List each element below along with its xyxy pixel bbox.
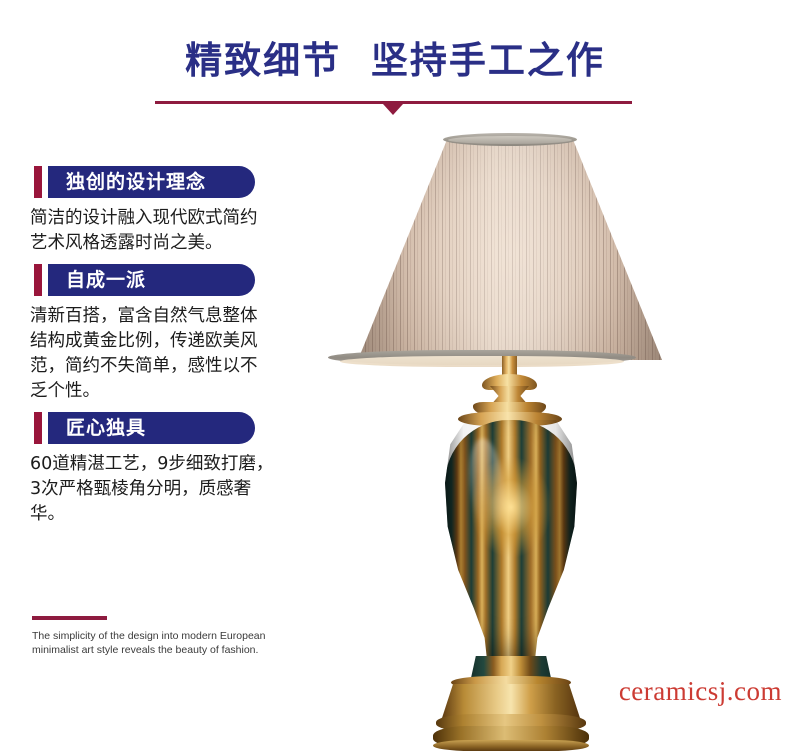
accent-bar [34,412,42,444]
feature-heading: 自成一派 [0,262,300,298]
feature-item: 自成一派 清新百搭，富含自然气息整体结构成黄金比例，传递欧美风范，简约不失简单，… [0,262,300,404]
lamp-ceramic-body-shading [445,420,577,662]
page-title: 精致细节 坚持手工之作 [0,30,790,84]
feature-heading: 匠心独具 [0,410,300,446]
heading-pill: 独创的设计理念 [48,166,255,198]
chevron-down-icon [383,104,403,115]
lamp-base-tier-2 [442,684,580,718]
feature-heading: 独创的设计理念 [0,164,300,200]
english-note-accent-bar [32,616,107,620]
accent-bar [34,166,42,198]
feature-label: 匠心独具 [66,412,146,444]
feature-item: 匠心独具 60道精湛工艺，9步细致打磨，3次严格甄棱角分明，质感奢华。 [0,410,300,527]
lamp-shade-top-inner [448,136,572,144]
accent-bar [34,264,42,296]
feature-label: 独创的设计理念 [66,166,206,198]
lamp-shade-sheen [358,138,662,360]
product-image-table-lamp [330,120,690,690]
english-note: The simplicity of the design into modern… [32,616,332,657]
heading-pill: 自成一派 [48,264,255,296]
feature-body: 60道精湛工艺，9步细致打磨，3次严格甄棱角分明，质感奢华。 [30,452,274,527]
heading-pill: 匠心独具 [48,412,255,444]
feature-label: 自成一派 [66,264,146,296]
feature-body: 简洁的设计融入现代欧式简约艺术风格透露时尚之美。 [30,206,274,256]
lamp-base-bottom-edge [433,740,589,751]
lamp-shade [330,138,690,380]
english-note-text: The simplicity of the design into modern… [32,629,312,657]
feature-list: 独创的设计理念 简洁的设计融入现代欧式简约艺术风格透露时尚之美。 自成一派 清新… [0,164,300,533]
site-watermark: ceramicsj.com [619,676,782,707]
feature-item: 独创的设计理念 简洁的设计融入现代欧式简约艺术风格透露时尚之美。 [0,164,300,256]
lamp-shade-bottom-inner [340,356,624,367]
lamp-pedestal [471,656,551,678]
product-detail-page: 精致细节 坚持手工之作 独创的设计理念 简洁的设计融入现代欧式简约艺术风格透露时… [0,0,790,711]
feature-body: 清新百搭，富含自然气息整体结构成黄金比例，传递欧美风范，简约不失简单，感性以不乏… [30,304,274,404]
